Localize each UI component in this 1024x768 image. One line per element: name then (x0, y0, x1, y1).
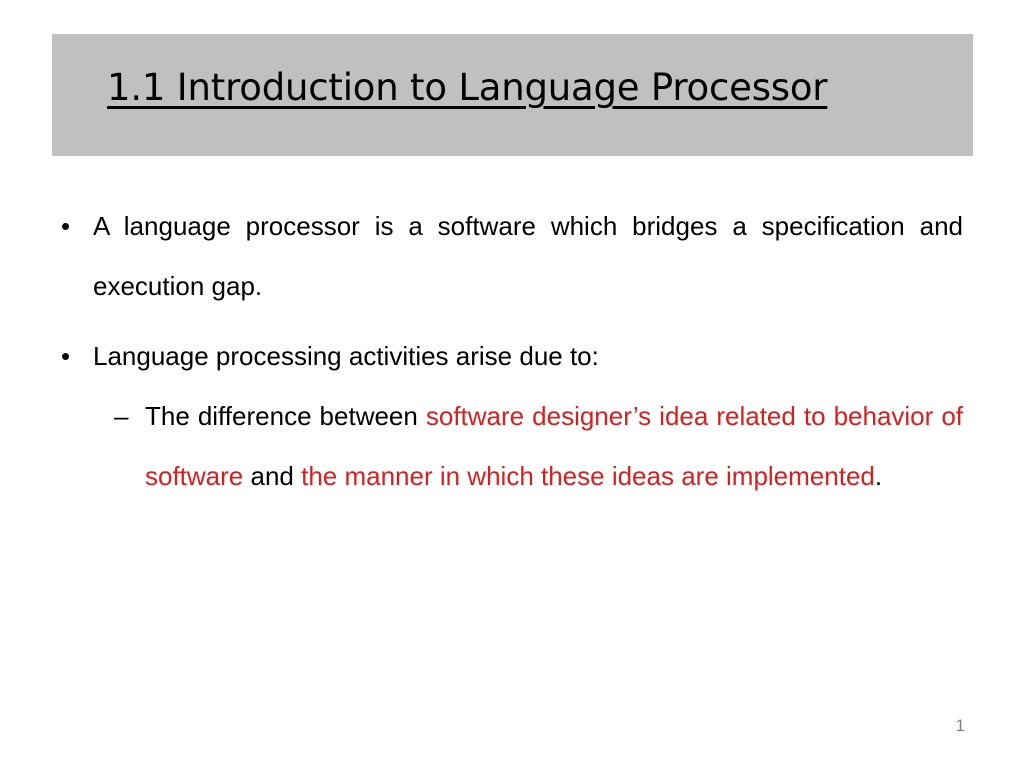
list-item: • A language processor is a software whi… (0, 196, 1024, 316)
list-item-text: Language processing activities arise due… (93, 341, 599, 371)
sub-list-item: – The difference between software design… (0, 386, 1024, 506)
dash-marker-icon: – (114, 386, 128, 446)
sub-list-segment-4: the manner in which these ideas are impl… (301, 461, 875, 491)
bullet-marker-icon: • (61, 326, 70, 386)
list-item-text: A language processor is a software which… (93, 211, 963, 301)
page-number: 1 (0, 716, 965, 736)
list-item: • Language processing activities arise d… (0, 326, 1024, 386)
sub-list-segment-1: The difference between (145, 401, 426, 431)
sub-list-segment-3: and (243, 461, 301, 491)
page-title: 1.1 Introduction to Language Processor (107, 66, 827, 110)
spacer (0, 316, 1024, 326)
title-banner: 1.1 Introduction to Language Processor (52, 34, 973, 156)
content-body: • A language processor is a software whi… (0, 196, 1024, 506)
slide: 1.1 Introduction to Language Processor •… (0, 0, 1024, 768)
sub-list-segment-5: . (875, 461, 882, 491)
bullet-marker-icon: • (61, 196, 70, 256)
